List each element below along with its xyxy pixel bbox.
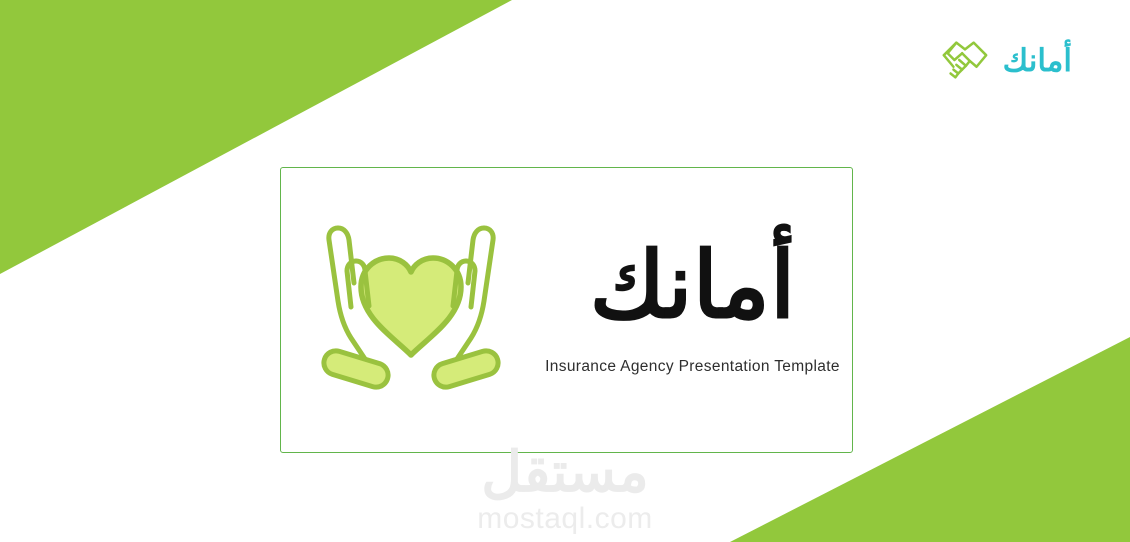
watermark-domain-text: mostaql.com (477, 502, 653, 537)
hands-holding-heart-icon (305, 209, 517, 405)
handshake-icon (937, 34, 993, 86)
card-subtitle: Insurance Agency Presentation Template (545, 358, 840, 376)
card-title: أمانك (589, 238, 795, 335)
brand-header: أمانك (937, 34, 1072, 86)
left-wrist-band (321, 348, 391, 390)
presentation-slide: أمانك (0, 0, 1130, 542)
card-text-area: أمانك Insurance Agency Presentation Temp… (541, 168, 852, 452)
watermark: مستقل mostaql.com (0, 444, 1130, 537)
right-wrist-band (431, 348, 501, 390)
title-card: أمانك Insurance Agency Presentation Temp… (280, 167, 853, 453)
card-logo-area (281, 168, 541, 452)
brand-name-header: أمانك (1003, 45, 1072, 76)
